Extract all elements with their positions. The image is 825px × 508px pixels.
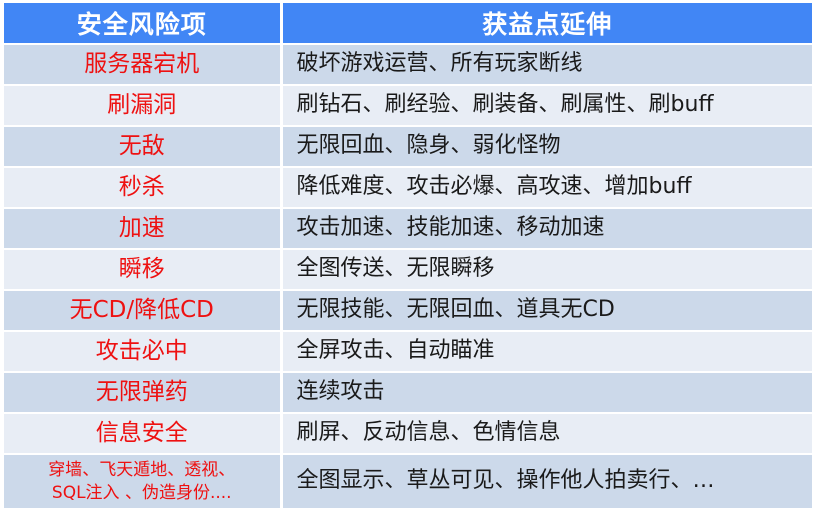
- benefit-cell: 刷钻石、刷经验、刷装备、刷属性、刷buff: [281, 85, 812, 126]
- security-risk-table: 安全风险项 获益点延伸 服务器宕机 破坏游戏运营、所有玩家断线 刷漏洞 刷钻石、…: [4, 3, 812, 508]
- table-row: 刷漏洞 刷钻石、刷经验、刷装备、刷属性、刷buff: [4, 85, 812, 126]
- risk-cell: 无敌: [4, 126, 281, 167]
- table-body: 服务器宕机 破坏游戏运营、所有玩家断线 刷漏洞 刷钻石、刷经验、刷装备、刷属性、…: [4, 44, 812, 508]
- risk-cell: 信息安全: [4, 413, 281, 454]
- risk-cell: 加速: [4, 208, 281, 249]
- risk-cell-line-1: 穿墙、飞天遁地、透视、: [10, 459, 274, 482]
- column-header-risk: 安全风险项: [4, 3, 281, 44]
- table-row: 瞬移 全图传送、无限瞬移: [4, 249, 812, 290]
- benefit-cell: 连续攻击: [281, 372, 812, 413]
- benefit-cell: 全图传送、无限瞬移: [281, 249, 812, 290]
- risk-cell: 无限弹药: [4, 372, 281, 413]
- table-row: 无敌 无限回血、隐身、弱化怪物: [4, 126, 812, 167]
- risk-cell-line-2: SQL注入 、伪造身份....: [10, 482, 274, 505]
- column-header-benefit: 获益点延伸: [281, 3, 812, 44]
- benefit-cell: 破坏游戏运营、所有玩家断线: [281, 44, 812, 85]
- benefit-cell: 无限回血、隐身、弱化怪物: [281, 126, 812, 167]
- risk-cell: 瞬移: [4, 249, 281, 290]
- risk-cell: 服务器宕机: [4, 44, 281, 85]
- table-row: 信息安全 刷屏、反动信息、色情信息: [4, 413, 812, 454]
- risk-cell: 攻击必中: [4, 331, 281, 372]
- table-row: 服务器宕机 破坏游戏运营、所有玩家断线: [4, 44, 812, 85]
- risk-cell: 秒杀: [4, 167, 281, 208]
- table-row: 攻击必中 全屏攻击、自动瞄准: [4, 331, 812, 372]
- risk-cell: 刷漏洞: [4, 85, 281, 126]
- benefit-cell: 降低难度、攻击必爆、高攻速、增加buff: [281, 167, 812, 208]
- risk-table-container: 安全风险项 获益点延伸 服务器宕机 破坏游戏运营、所有玩家断线 刷漏洞 刷钻石、…: [4, 3, 812, 495]
- table-header-row: 安全风险项 获益点延伸: [4, 3, 812, 44]
- benefit-cell: 攻击加速、技能加速、移动加速: [281, 208, 812, 249]
- table-header: 安全风险项 获益点延伸: [4, 3, 812, 44]
- benefit-cell: 全屏攻击、自动瞄准: [281, 331, 812, 372]
- table-row: 无限弹药 连续攻击: [4, 372, 812, 413]
- table-row: 秒杀 降低难度、攻击必爆、高攻速、增加buff: [4, 167, 812, 208]
- table-row: 无CD/降低CD 无限技能、无限回血、道具无CD: [4, 290, 812, 331]
- benefit-cell: 刷屏、反动信息、色情信息: [281, 413, 812, 454]
- benefit-cell: 无限技能、无限回血、道具无CD: [281, 290, 812, 331]
- risk-cell: 无CD/降低CD: [4, 290, 281, 331]
- table-row: 加速 攻击加速、技能加速、移动加速: [4, 208, 812, 249]
